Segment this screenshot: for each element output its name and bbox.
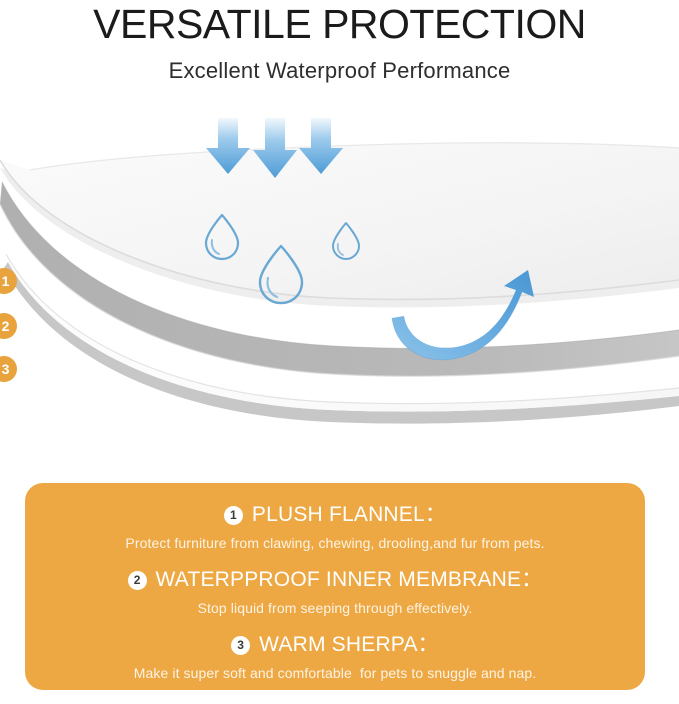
feature-item: 3 WARM SHERPA： Make it super soft and co… [25,631,645,682]
feature-number-badge: 2 [128,571,147,590]
feature-description: Stop liquid from seeping through effecti… [25,594,645,617]
feature-item: 1 PLUSH FLANNEL： Protect furniture from … [25,501,645,552]
layer-diagram: 1 2 3 [0,104,679,454]
feature-title: WARM SHERPA： [259,633,439,657]
page-title: VERSATILE PROTECTION [0,0,679,46]
feature-heading: 3 WARM SHERPA： [25,631,645,659]
feature-heading: 1 PLUSH FLANNEL： [25,501,645,529]
feature-heading: 2 WATERPPROOF INNER MEMBRANE： [25,566,645,594]
feature-title: WATERPPROOF INNER MEMBRANE： [156,568,543,592]
feature-number-badge: 1 [224,506,243,525]
feature-description: Protect furniture from clawing, chewing,… [25,529,645,552]
features-panel: 1 PLUSH FLANNEL： Protect furniture from … [25,483,645,690]
feature-description: Make it super soft and comfortable for p… [25,659,645,682]
feature-item: 2 WATERPPROOF INNER MEMBRANE： Stop liqui… [25,566,645,617]
page-subtitle: Excellent Waterproof Performance [0,46,679,84]
feature-title: PLUSH FLANNEL： [252,503,446,527]
layer-diagram-graphic [0,104,679,454]
feature-number-badge: 3 [231,636,250,655]
header: VERSATILE PROTECTION Excellent Waterproo… [0,0,679,84]
